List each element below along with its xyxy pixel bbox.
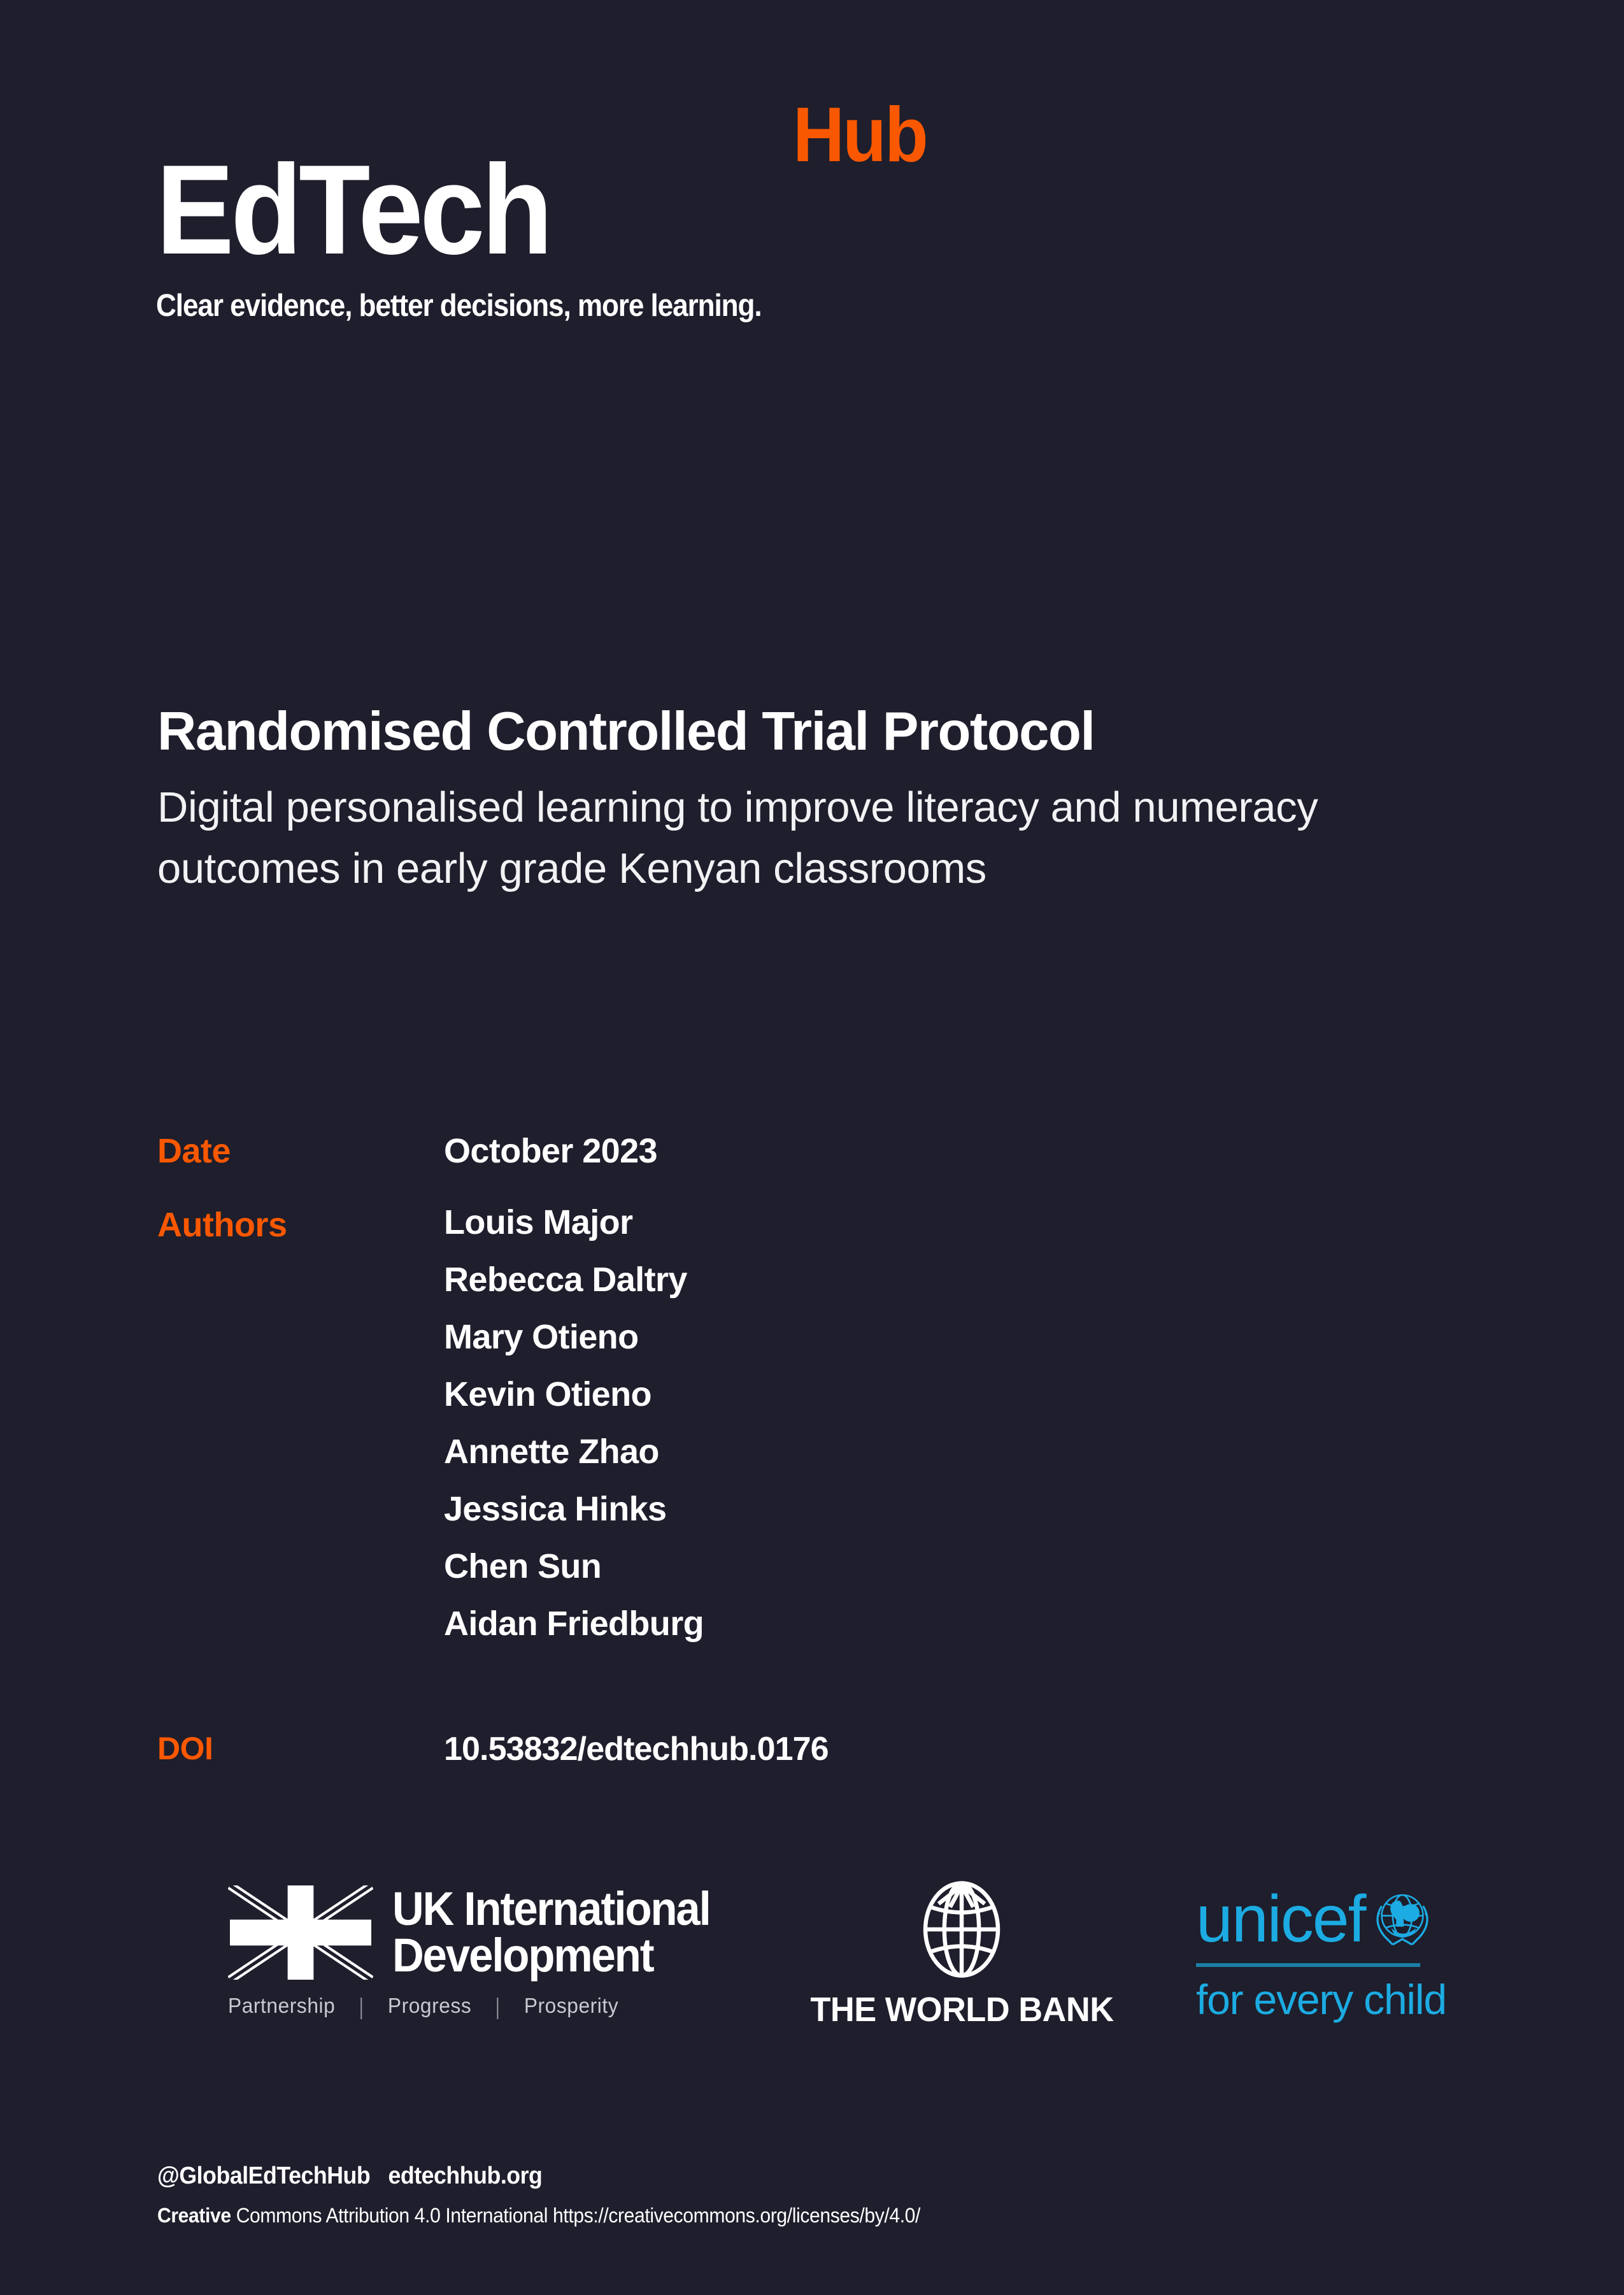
footer: @GlobalEdTechHubedtechhub.org Creative C…	[157, 2163, 1495, 2227]
social-handle[interactable]: @GlobalEdTechHub	[157, 2163, 370, 2189]
metadata-block: Date October 2023 Authors Louis Major Re…	[157, 1131, 1367, 1769]
unicef-logo: unicef	[1196, 1885, 1446, 2020]
unicef-divider	[1196, 1963, 1420, 1967]
authors-list: Louis Major Rebecca Daltry Mary Otieno K…	[444, 1205, 704, 1641]
tagline-divider	[497, 1998, 499, 2019]
uk-logo-text: UK International Development	[392, 1886, 710, 1978]
author-item: Rebecca Daltry	[444, 1262, 704, 1297]
author-item: Annette Zhao	[444, 1434, 704, 1469]
author-item: Aidan Friedburg	[444, 1606, 704, 1641]
metadata-row-authors: Authors Louis Major Rebecca Daltry Mary …	[157, 1205, 1367, 1641]
world-bank-logo: THE WORLD BANK	[806, 1879, 1118, 2029]
logo-wordmark: EdTech Hub	[156, 108, 920, 274]
unicef-wordmark: unicef	[1196, 1890, 1365, 1950]
uk-logo-line1: UK International	[392, 1886, 710, 1933]
unicef-slogan: for every child	[1196, 1978, 1446, 2020]
uk-tagline-progress: Progress	[388, 1994, 471, 2018]
unicef-logo-top: unicef	[1196, 1885, 1437, 1954]
author-item: Louis Major	[444, 1205, 704, 1240]
author-item: Chen Sun	[444, 1549, 704, 1584]
uk-logo-top: UK International Development	[228, 1885, 734, 1980]
partner-logos-strip: UK International Development Partnership…	[0, 1873, 1624, 2051]
unicef-emblem-icon	[1368, 1885, 1437, 1954]
metadata-row-doi: DOI 10.53832/edtechhub.0176	[157, 1730, 1367, 1769]
logo-hub-text: Hub	[793, 96, 927, 173]
doi-label: DOI	[157, 1730, 444, 1768]
world-bank-globe-icon	[920, 1879, 1003, 1980]
license-label: Creative	[157, 2204, 231, 2227]
metadata-row-date: Date October 2023	[157, 1131, 1367, 1172]
license-text[interactable]: Commons Attribution 4.0 International ht…	[231, 2204, 920, 2227]
document-cover-page: EdTech Hub Clear evidence, better decisi…	[0, 0, 1624, 2295]
logo-edtech-text: EdTech	[156, 147, 550, 274]
logo-tagline: Clear evidence, better decisions, more l…	[156, 288, 762, 324]
world-bank-name: THE WORLD BANK	[810, 1990, 1113, 2029]
authors-label: Authors	[157, 1205, 444, 1246]
footer-contact-line: @GlobalEdTechHubedtechhub.org	[157, 2163, 1414, 2190]
website-link[interactable]: edtechhub.org	[388, 2163, 542, 2189]
author-item: Jessica Hinks	[444, 1492, 704, 1526]
uk-logo-line2: Development	[392, 1933, 710, 1979]
uk-tagline-prosperity: Prosperity	[524, 1994, 618, 2018]
page-title: Randomised Controlled Trial Protocol	[157, 693, 1189, 771]
doi-value[interactable]: 10.53832/edtechhub.0176	[444, 1730, 829, 1769]
edtech-hub-logo: EdTech Hub Clear evidence, better decisi…	[156, 108, 920, 274]
uk-international-development-logo: UK International Development Partnership…	[228, 1885, 734, 2018]
date-value: October 2023	[444, 1131, 657, 1172]
uk-logo-tagline: Partnership Progress Prosperity	[228, 1994, 618, 2018]
author-item: Kevin Otieno	[444, 1377, 704, 1412]
footer-license-line: Creative Commons Attribution 4.0 Interna…	[157, 2204, 1414, 2227]
page-subtitle: Digital personalised learning to improve…	[157, 777, 1380, 899]
date-label: Date	[157, 1131, 444, 1172]
union-jack-flag-icon	[228, 1885, 373, 1980]
tagline-divider	[361, 1998, 362, 2019]
author-item: Mary Otieno	[444, 1320, 704, 1354]
title-block: Randomised Controlled Trial Protocol Dig…	[157, 693, 1406, 899]
uk-tagline-partnership: Partnership	[228, 1994, 335, 2018]
